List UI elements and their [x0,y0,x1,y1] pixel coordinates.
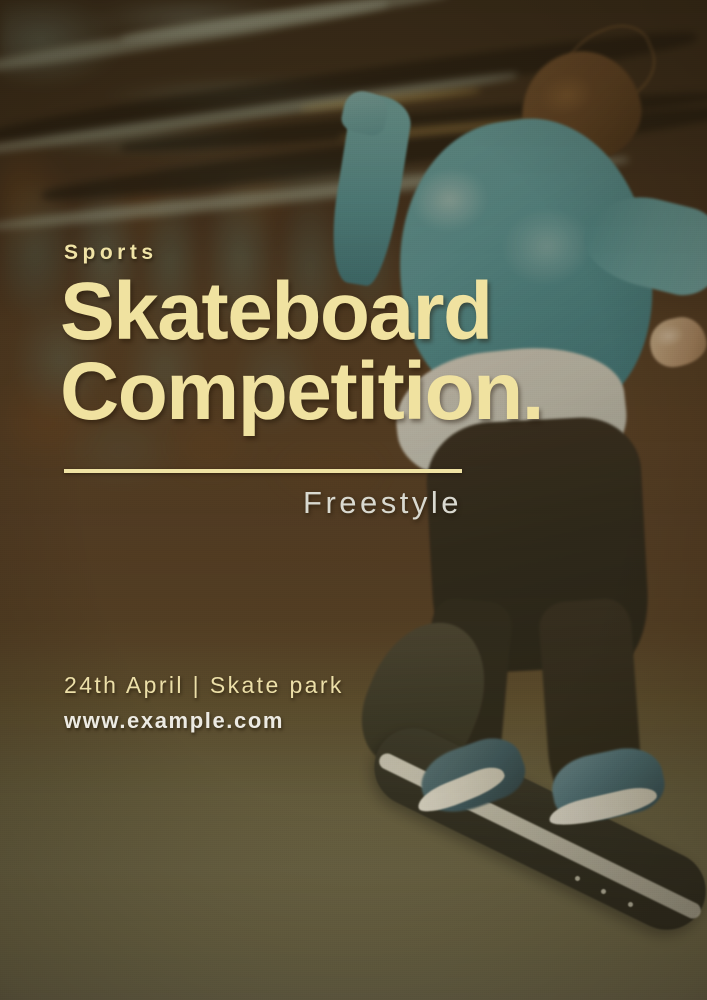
poster-text-content: Sports Skateboard Competition. Freestyle… [0,0,707,1000]
event-date-location: 24th April | Skate park [64,672,344,699]
headline-line-1: Skateboard [60,266,492,357]
event-website-url[interactable]: www.example.com [64,708,344,734]
headline-line-2: Competition. [60,352,543,432]
poster-eyebrow-label: Sports [64,241,158,265]
poster-details-block: 24th April | Skate park www.example.com [64,672,344,734]
headline-divider-rule [64,469,462,473]
poster-headline: Skateboard Competition. [60,272,543,431]
poster-subheadline: Freestyle [64,485,462,521]
poster-canvas: Sports Skateboard Competition. Freestyle… [0,0,707,1000]
